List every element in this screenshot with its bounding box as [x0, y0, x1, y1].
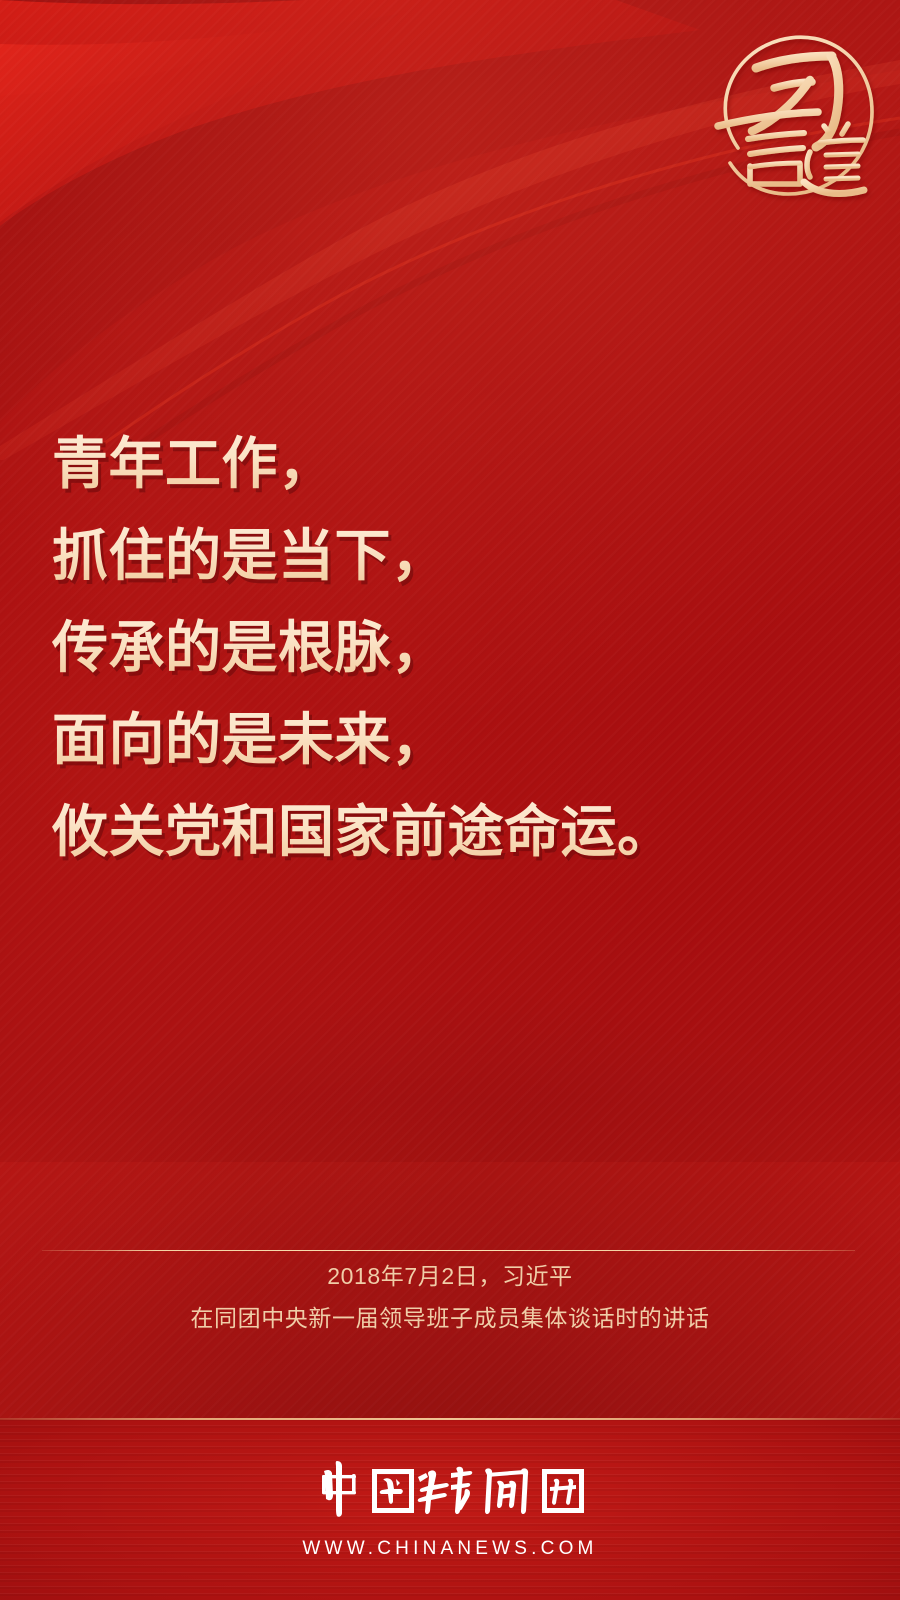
seal-logo	[700, 30, 880, 205]
attribution-divider	[42, 1250, 855, 1251]
quote-block: 青年工作， 抓住的是当下， 传承的是根脉， 面向的是未来， 攸关党和国家前途命运…	[52, 418, 852, 878]
quote-line-2: 抓住的是当下，	[52, 510, 852, 602]
quote-line-5: 攸关党和国家前途命运。	[52, 786, 852, 878]
attribution-line-2: 在同团中央新一届领导班子成员集体谈话时的讲话	[0, 1297, 900, 1339]
footer-band-top-rule	[0, 1418, 900, 1420]
chinanews-url: WWW.CHINANEWS.COM	[0, 1538, 900, 1560]
quote-line-1: 青年工作，	[52, 418, 852, 510]
poster-canvas: 青年工作， 抓住的是当下， 传承的是根脉， 面向的是未来， 攸关党和国家前途命运…	[0, 0, 900, 1600]
chinanews-wordmark	[0, 1455, 900, 1532]
attribution-line-1: 2018年7月2日，习近平	[0, 1255, 900, 1297]
attribution-block: 2018年7月2日，习近平 在同团中央新一届领导班子成员集体谈话时的讲话	[0, 1255, 900, 1339]
footer-block: WWW.CHINANEWS.COM	[0, 1455, 900, 1560]
quote-line-4: 面向的是未来，	[52, 694, 852, 786]
quote-line-3: 传承的是根脉，	[52, 602, 852, 694]
